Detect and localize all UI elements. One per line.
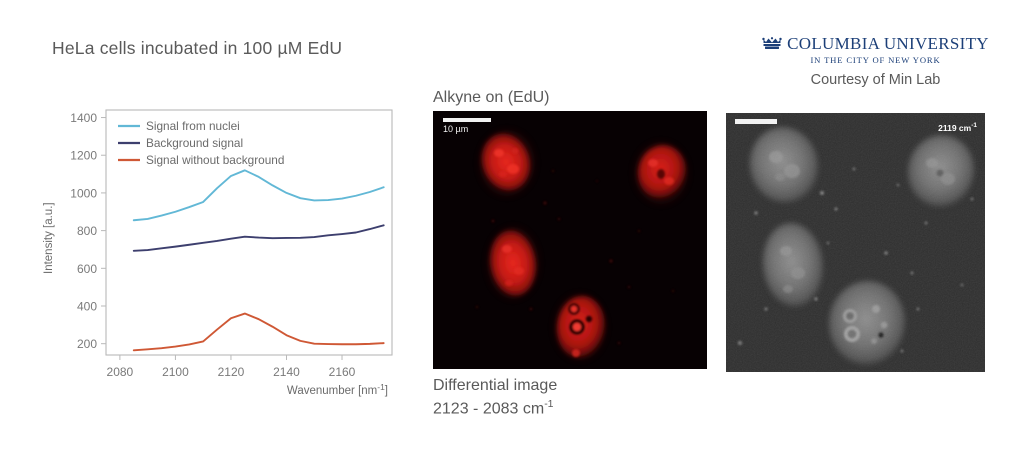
fluorescence-caption: Differential image 2123 - 2083 cm-1 [433,375,557,420]
grayscale-image: 2119 cm-1 [726,113,985,372]
y-tick-label: 800 [77,224,97,238]
caption-line-1: Differential image [433,375,557,397]
grayscale-image-render [726,113,985,372]
y-tick-label: 400 [77,300,97,314]
y-tick-label: 1000 [70,186,97,200]
x-tick-label: 2100 [162,365,189,379]
spectrum-chart: Intensity [a.u.] 20040060080010001200140… [36,104,411,404]
y-tick-label: 200 [77,337,97,351]
y-axis-title: Intensity [a.u.] [43,202,55,274]
y-tick-label: 1200 [70,149,97,163]
x-tick-label: 2080 [107,365,134,379]
page-title: HeLa cells incubated in 100 µM EdU [52,38,342,59]
legend-label-1: Background signal [146,136,243,150]
wavenumber-exponent: -1 [971,122,977,129]
x-axis-title: Wavenumber [nm-1] [287,382,388,397]
slide-canvas: HeLa cells incubated in 100 µM EdU COLUM… [0,0,1024,473]
fluorescence-image-render [433,111,707,369]
logo-university-name: COLUMBIA UNIVERSITY [787,34,989,54]
crown-icon [762,37,782,52]
logo-wordmark-row: COLUMBIA UNIVERSITY [768,34,983,54]
y-tick-label: 600 [77,262,97,276]
logo-city-line: IN THE CITY OF NEW YORK [768,55,983,65]
y-tick-label: 1400 [70,111,97,125]
columbia-logo: COLUMBIA UNIVERSITY IN THE CITY OF NEW Y… [768,34,983,88]
legend-label-2: Signal without background [146,153,284,167]
legend-label-0: Signal from nuclei [146,119,240,133]
x-tick-label: 2120 [218,365,245,379]
wavenumber-value: 2119 cm [938,123,971,133]
wavenumber-badge: 2119 cm-1 [938,122,977,133]
chart-svg: Intensity [a.u.] 20040060080010001200140… [36,104,411,404]
scale-bar [735,119,777,124]
fluorescence-image: 10 µm [433,111,707,369]
caption-wavenumber-range: 2123 - 2083 cm [433,400,544,417]
scale-bar-label: 10 µm [443,124,468,134]
fluorescence-panel-label: Alkyne on (EdU) [433,89,550,107]
caption-exponent: -1 [544,398,553,410]
x-tick-label: 2160 [329,365,356,379]
courtesy-credit: Courtesy of Min Lab [768,72,983,88]
scale-bar [443,118,491,122]
y-axis-ticks: 200400600800100012001400 [70,111,106,351]
caption-line-2: 2123 - 2083 cm-1 [433,397,557,420]
x-tick-label: 2140 [273,365,300,379]
x-axis-ticks: 20802100212021402160 [107,355,356,379]
